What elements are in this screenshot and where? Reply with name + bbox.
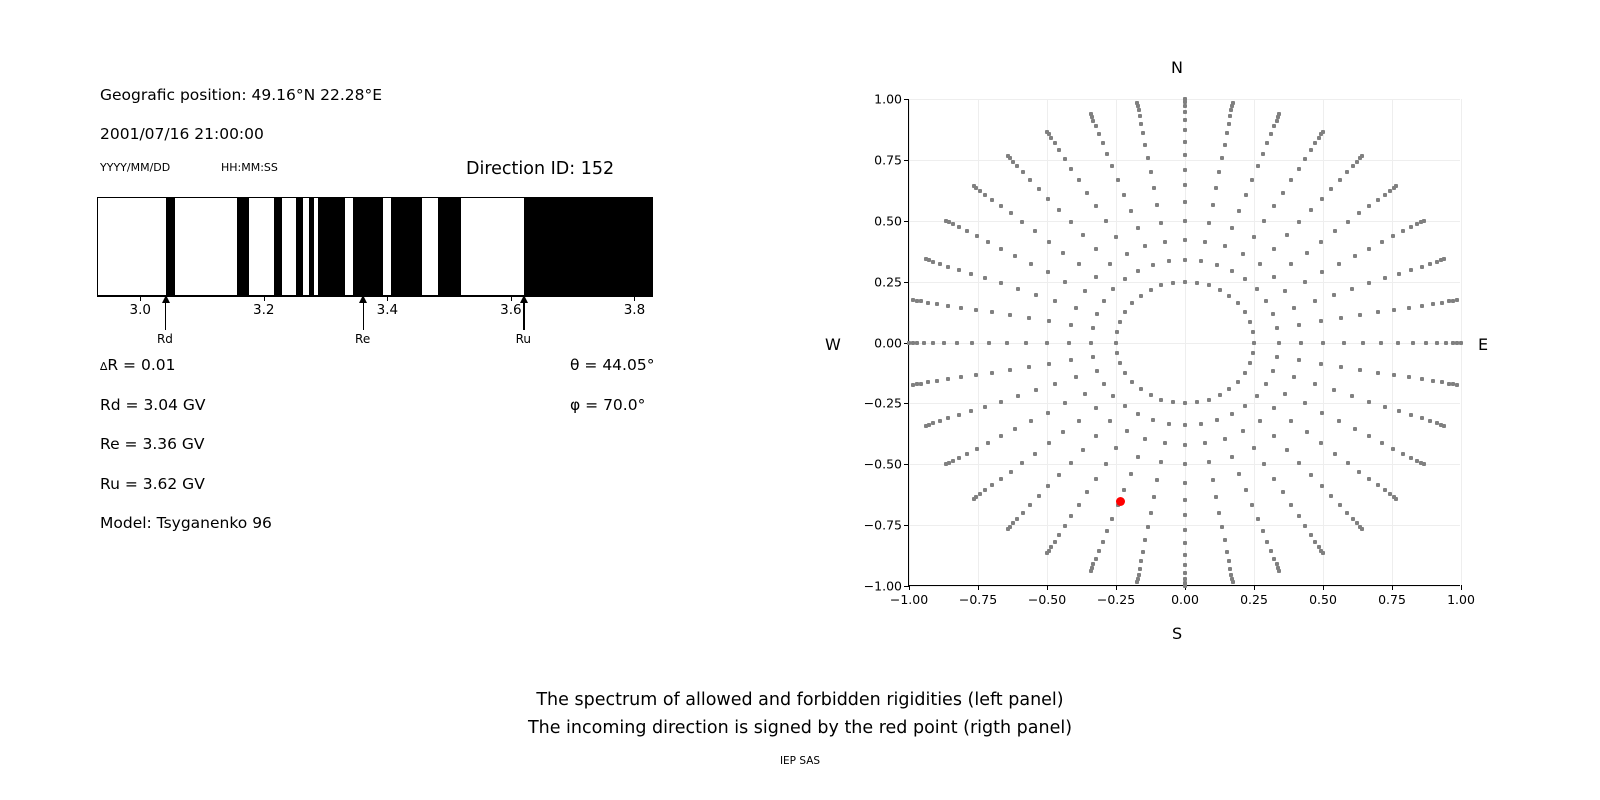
direction-point	[1394, 184, 1398, 188]
direction-point	[1440, 380, 1444, 384]
direction-point	[1383, 405, 1387, 409]
direction-point	[1220, 156, 1224, 160]
spectrum-bands-container	[97, 197, 653, 296]
direction-point	[1116, 178, 1120, 182]
direction-point	[1376, 310, 1380, 314]
direction-point	[1203, 240, 1207, 244]
direction-point	[1115, 351, 1119, 355]
direction-point	[972, 497, 976, 501]
forbidden-band	[353, 198, 384, 295]
direction-point	[946, 265, 950, 269]
direction-point	[1183, 571, 1187, 575]
direction-point	[1183, 528, 1187, 532]
datetime-label: 2001/07/16 21:00:00	[100, 125, 264, 143]
direction-point	[999, 434, 1003, 438]
direction-point	[1067, 341, 1071, 345]
direction-point	[1332, 388, 1336, 392]
direction-point	[907, 341, 911, 345]
direction-point	[1367, 434, 1371, 438]
direction-point	[983, 276, 987, 280]
direction-point	[919, 382, 923, 386]
direction-point	[1104, 219, 1108, 223]
direction-point	[1229, 108, 1233, 112]
direction-point	[1346, 220, 1350, 224]
direction-point	[1139, 294, 1143, 298]
direction-point	[1021, 170, 1025, 174]
direction-point	[1230, 226, 1234, 230]
direction-point	[1256, 517, 1260, 521]
direction-point	[1063, 524, 1067, 528]
param-re: Re = 3.36 GV	[100, 435, 205, 453]
direction-point	[1094, 204, 1098, 208]
direction-point	[1351, 517, 1355, 521]
direction-point	[1297, 358, 1301, 362]
direction-point	[1252, 446, 1256, 450]
direction-map-panel: −1.00−0.75−0.50−0.250.000.250.500.751.00…	[780, 0, 1600, 680]
direction-point	[1394, 497, 1398, 501]
direction-point	[1183, 481, 1187, 485]
direction-point	[1248, 361, 1252, 365]
direction-point	[1345, 170, 1349, 174]
x-axis-tick-label: −0.50	[1028, 592, 1066, 607]
direction-point	[1367, 281, 1371, 285]
direction-point	[1123, 404, 1127, 408]
direction-point	[1006, 154, 1010, 158]
direction-point	[1037, 187, 1041, 191]
direction-point	[1338, 178, 1342, 182]
direction-point	[1183, 118, 1187, 122]
direction-point	[1380, 240, 1384, 244]
direction-point	[1152, 495, 1156, 499]
direction-point	[1321, 551, 1325, 555]
direction-point	[1183, 423, 1187, 427]
direction-point	[1102, 299, 1106, 303]
direction-point	[1149, 288, 1153, 292]
direction-point	[1360, 154, 1364, 158]
direction-point	[1422, 219, 1426, 223]
x-axis-tick-label: −0.25	[1097, 592, 1135, 607]
direction-point	[1271, 369, 1275, 373]
direction-point	[1217, 170, 1221, 174]
direction-point	[1255, 287, 1259, 291]
direction-point	[1227, 122, 1231, 126]
direction-point	[1101, 540, 1105, 544]
direction-point	[986, 240, 990, 244]
direction-point	[1442, 424, 1446, 428]
spectrum-x-axis: 3.03.23.43.63.8RdReRu	[97, 296, 653, 306]
direction-point	[1183, 153, 1187, 157]
direction-point	[1077, 178, 1081, 182]
forbidden-band	[274, 198, 282, 295]
direction-point	[1214, 186, 1218, 190]
direction-point	[1008, 368, 1012, 372]
direction-point	[1289, 262, 1293, 266]
direction-point	[1297, 514, 1301, 518]
param-delta-r: ∆R = 0.01	[100, 356, 175, 374]
direction-point	[1420, 265, 1424, 269]
direction-point	[1028, 503, 1032, 507]
polar-scatter-plot: −1.00−0.75−0.50−0.250.000.250.500.751.00…	[908, 99, 1460, 586]
direction-point	[946, 304, 950, 308]
forbidden-band	[237, 198, 249, 295]
direction-point	[1261, 152, 1265, 156]
direction-point	[1258, 419, 1262, 423]
direction-point	[1101, 141, 1105, 145]
direction-point	[983, 193, 987, 197]
direction-point	[1420, 416, 1424, 420]
direction-point	[1252, 235, 1256, 239]
direction-point	[1271, 312, 1275, 316]
direction-point	[1409, 225, 1413, 229]
direction-point	[1305, 251, 1309, 255]
time-format-hint: HH:MM:SS	[221, 161, 278, 174]
direction-point	[1183, 238, 1187, 242]
direction-point	[944, 219, 948, 223]
x-axis-tick	[978, 585, 979, 590]
direction-point	[1183, 443, 1187, 447]
direction-point	[1392, 308, 1396, 312]
direction-point	[1061, 251, 1065, 255]
direction-point	[1447, 382, 1451, 386]
direction-point	[1297, 220, 1301, 224]
direction-point	[1123, 371, 1127, 375]
direction-point	[1281, 490, 1285, 494]
direction-point	[1285, 233, 1289, 237]
direction-point	[1136, 226, 1140, 230]
direction-point	[1217, 511, 1221, 515]
direction-point	[1094, 247, 1098, 251]
direction-point	[1248, 320, 1252, 324]
direction-point	[1015, 517, 1019, 521]
direction-point	[1379, 341, 1383, 345]
direction-point	[1223, 143, 1227, 147]
direction-point	[1435, 260, 1439, 264]
direction-point	[1167, 422, 1171, 426]
direction-point	[1139, 122, 1143, 126]
direction-id-label: Direction ID: 152	[466, 159, 614, 179]
direction-point	[1029, 419, 1033, 423]
direction-point	[1243, 371, 1247, 375]
direction-point	[1081, 233, 1085, 237]
caption-line-1: The spectrum of allowed and forbidden ri…	[0, 686, 1600, 714]
direction-point	[1149, 170, 1153, 174]
direction-point	[1244, 193, 1248, 197]
direction-point	[1211, 203, 1215, 207]
direction-point	[1047, 319, 1051, 323]
direction-point	[1183, 200, 1187, 204]
direction-point	[1272, 406, 1276, 410]
direction-point	[1152, 186, 1156, 190]
direction-point	[922, 341, 926, 345]
direction-point	[1303, 157, 1307, 161]
x-axis-tick	[1116, 585, 1117, 590]
direction-point	[1283, 289, 1287, 293]
param-model: Model: Tsyganenko 96	[100, 514, 272, 532]
direction-point	[1108, 419, 1112, 423]
direction-point	[1102, 382, 1106, 386]
forbidden-band	[318, 198, 345, 295]
direction-point	[1183, 462, 1187, 466]
direction-point	[1447, 299, 1451, 303]
direction-point	[1277, 569, 1281, 573]
param-ru: Ru = 3.62 GV	[100, 475, 205, 493]
direction-point	[1110, 164, 1114, 168]
direction-point	[1159, 460, 1163, 464]
direction-point	[911, 298, 915, 302]
direction-point	[1401, 452, 1405, 456]
y-axis-tick-label: 0.50	[874, 213, 909, 228]
direction-point	[957, 225, 961, 229]
direction-point	[955, 341, 959, 345]
direction-point	[1122, 488, 1126, 492]
direction-point	[1138, 567, 1142, 571]
direction-point	[1081, 448, 1085, 452]
direction-point	[915, 382, 919, 386]
direction-point	[1069, 323, 1073, 327]
direction-point	[1122, 193, 1126, 197]
direction-point	[931, 341, 935, 345]
direction-point	[1143, 244, 1147, 248]
direction-point	[1292, 375, 1296, 379]
direction-point	[1094, 124, 1098, 128]
direction-point	[1228, 567, 1232, 571]
direction-point	[959, 306, 963, 310]
y-axis-tick-label: 1.00	[874, 92, 909, 107]
direction-point	[1097, 132, 1101, 136]
x-axis-tick	[1047, 585, 1048, 590]
direction-point	[987, 341, 991, 345]
axis-tick-label: 3.6	[500, 302, 521, 318]
gridline-horizontal	[909, 525, 1460, 526]
direction-point	[1289, 178, 1293, 182]
direction-point	[1376, 483, 1380, 487]
direction-point	[1383, 276, 1387, 280]
direction-point	[1250, 178, 1254, 182]
direction-point	[1069, 167, 1073, 171]
direction-point	[1011, 160, 1015, 164]
figure-caption: The spectrum of allowed and forbidden ri…	[0, 686, 1600, 742]
direction-point	[1277, 112, 1281, 116]
direction-point	[1111, 287, 1115, 291]
arrow-up-icon	[520, 295, 528, 303]
direction-point	[924, 257, 928, 261]
direction-point	[1069, 461, 1073, 465]
direction-point	[1021, 511, 1025, 515]
direction-point	[1138, 114, 1142, 118]
direction-point	[931, 260, 935, 264]
direction-point	[1269, 549, 1273, 553]
direction-point	[1057, 208, 1061, 212]
direction-point	[1155, 203, 1159, 207]
direction-point	[1391, 234, 1395, 238]
direction-point	[1357, 211, 1361, 215]
direction-point	[1091, 119, 1095, 123]
direction-point	[1376, 371, 1380, 375]
direction-point	[1135, 580, 1139, 584]
direction-point	[1110, 517, 1114, 521]
direction-point	[1435, 421, 1439, 425]
rigidity-spectrum-chart	[97, 197, 653, 296]
direction-point	[1396, 341, 1400, 345]
direction-point	[1143, 143, 1147, 147]
direction-point	[911, 341, 915, 345]
direction-point	[986, 441, 990, 445]
geographic-position-label: Geografic position: 49.16°N 22.28°E	[100, 86, 382, 104]
direction-point	[1009, 211, 1013, 215]
direction-point	[1027, 316, 1031, 320]
direction-point	[1230, 412, 1234, 416]
direction-point	[1320, 197, 1324, 201]
direction-point	[1277, 341, 1281, 345]
direction-point	[1063, 157, 1067, 161]
direction-point	[1123, 277, 1127, 281]
direction-point	[957, 456, 961, 460]
direction-point	[1243, 404, 1247, 408]
direction-point	[1207, 460, 1211, 464]
direction-point	[1143, 538, 1147, 542]
direction-point	[1089, 112, 1093, 116]
direction-point	[1104, 462, 1108, 466]
direction-point	[1183, 110, 1187, 114]
direction-point	[1297, 461, 1301, 465]
direction-point	[1163, 240, 1167, 244]
direction-point	[1094, 275, 1098, 279]
direction-point	[1057, 473, 1061, 477]
footer-label: IEP SAS	[0, 755, 1600, 767]
direction-point	[1074, 306, 1078, 310]
direction-point	[1171, 400, 1175, 404]
forbidden-band	[309, 198, 314, 295]
direction-point	[1089, 341, 1093, 345]
direction-point	[1303, 280, 1307, 284]
direction-point	[1214, 495, 1218, 499]
direction-point	[1028, 178, 1032, 182]
direction-point	[946, 377, 950, 381]
x-axis-tick-label: 0.50	[1309, 592, 1337, 607]
direction-point	[1183, 498, 1187, 502]
x-axis-tick-label: 0.75	[1378, 592, 1406, 607]
direction-point	[1094, 406, 1098, 410]
direction-point	[1360, 527, 1364, 531]
direction-point	[1183, 104, 1187, 108]
direction-point	[1139, 387, 1143, 391]
direction-point	[999, 400, 1003, 404]
arrow-label: Re	[355, 332, 370, 346]
direction-point	[1218, 288, 1222, 292]
direction-point	[1077, 503, 1081, 507]
direction-point	[1285, 448, 1289, 452]
direction-point	[1061, 430, 1065, 434]
direction-point	[1380, 441, 1384, 445]
direction-point	[957, 268, 961, 272]
direction-point	[1265, 540, 1269, 544]
direction-point	[999, 281, 1003, 285]
direction-point	[978, 492, 982, 496]
direction-point	[959, 375, 963, 379]
direction-point	[1258, 262, 1262, 266]
direction-point	[978, 189, 982, 193]
direction-point	[1203, 441, 1207, 445]
direction-point	[1297, 167, 1301, 171]
direction-point	[1383, 488, 1387, 492]
x-axis-tick-label: 0.25	[1240, 592, 1268, 607]
direction-point	[1272, 124, 1276, 128]
direction-point	[975, 447, 979, 451]
direction-point	[1199, 259, 1203, 263]
direction-point	[1272, 247, 1276, 251]
direction-point	[999, 477, 1003, 481]
direction-point	[990, 371, 994, 375]
x-axis-tick	[1254, 585, 1255, 590]
direction-point	[1231, 580, 1235, 584]
direction-point	[1223, 244, 1227, 248]
direction-point	[942, 341, 946, 345]
direction-point	[972, 184, 976, 188]
param-theta: θ = 44.05°	[570, 356, 654, 374]
direction-point	[1451, 341, 1455, 345]
direction-point	[1321, 341, 1325, 345]
direction-point	[1130, 380, 1134, 384]
direction-point	[926, 380, 930, 384]
direction-point	[1299, 341, 1303, 345]
direction-point	[1256, 164, 1260, 168]
direction-point	[1009, 470, 1013, 474]
direction-point	[1407, 306, 1411, 310]
direction-point	[974, 308, 978, 312]
direction-point	[1149, 393, 1153, 397]
direction-point	[1105, 152, 1109, 156]
direction-point	[1069, 220, 1073, 224]
direction-point	[1397, 409, 1401, 413]
direction-point	[1083, 392, 1087, 396]
direction-point	[1183, 401, 1187, 405]
direction-point	[1236, 301, 1240, 305]
direction-point	[1275, 355, 1279, 359]
direction-point	[1345, 511, 1349, 515]
direction-point	[1269, 132, 1273, 136]
direction-point	[1013, 427, 1017, 431]
direction-point	[938, 419, 942, 423]
x-axis-tick	[1323, 585, 1324, 590]
direction-point	[1053, 141, 1057, 145]
direction-point	[1171, 281, 1175, 285]
direction-point	[911, 383, 915, 387]
direction-point	[1129, 209, 1133, 213]
direction-point	[1264, 382, 1268, 386]
x-axis-tick-label: 1.00	[1447, 592, 1475, 607]
arrow-up-icon	[162, 295, 170, 303]
direction-point	[1053, 540, 1057, 544]
direction-point	[1255, 394, 1259, 398]
direction-point	[1008, 313, 1012, 317]
direction-point	[957, 413, 961, 417]
direction-point	[1319, 319, 1323, 323]
direction-point	[1215, 263, 1219, 267]
direction-point	[1125, 252, 1129, 256]
direction-point	[1230, 269, 1234, 273]
direction-point	[1431, 379, 1435, 383]
param-phi: φ = 70.0°	[570, 396, 645, 414]
direction-point	[983, 405, 987, 409]
direction-point	[1297, 323, 1301, 327]
forbidden-band	[166, 198, 175, 295]
direction-point	[1016, 394, 1020, 398]
direction-point	[1281, 191, 1285, 195]
direction-point	[1033, 452, 1037, 456]
direction-point	[1105, 529, 1109, 533]
x-axis-tick	[1461, 585, 1462, 590]
direction-point	[1155, 478, 1159, 482]
